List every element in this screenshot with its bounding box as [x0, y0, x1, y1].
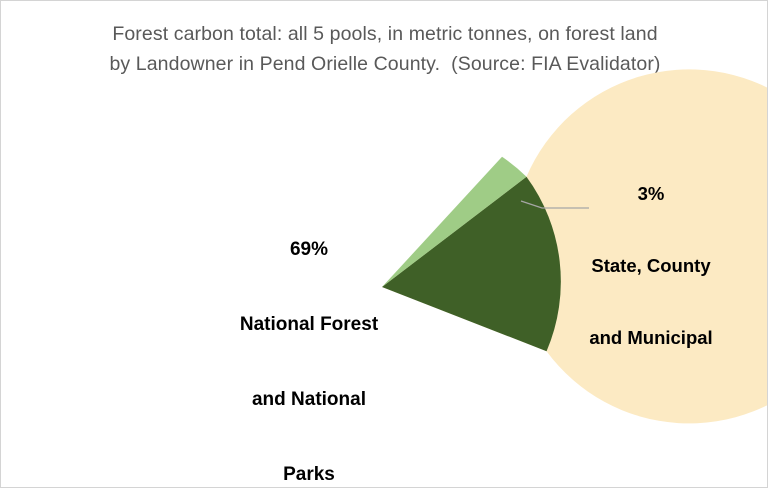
- pie-label-state-county-percent: 3%: [539, 182, 763, 206]
- pie-label-private-name: Private: [401, 422, 541, 447]
- pie-label-state-county-name-line-1: State, County: [539, 254, 763, 278]
- pie-label-state-county-name-line-2: and Municipal: [539, 326, 763, 350]
- pie-label-national-forest-name-line-1: National Forest: [214, 312, 404, 337]
- pie-label-private-percent: 27%: [401, 347, 541, 372]
- chart-canvas: Forest carbon total: all 5 pools, in met…: [0, 0, 768, 488]
- pie-label-national-forest: 69% National Forest and National Parks: [214, 187, 404, 488]
- pie-label-state-county: 3% State, County and Municipal: [539, 134, 763, 398]
- pie-label-national-forest-percent: 69%: [214, 237, 404, 262]
- pie-label-national-forest-name-line-3: Parks: [214, 462, 404, 487]
- pie-label-private: 27% Private: [401, 297, 541, 488]
- pie-label-national-forest-name-line-2: and National: [214, 387, 404, 412]
